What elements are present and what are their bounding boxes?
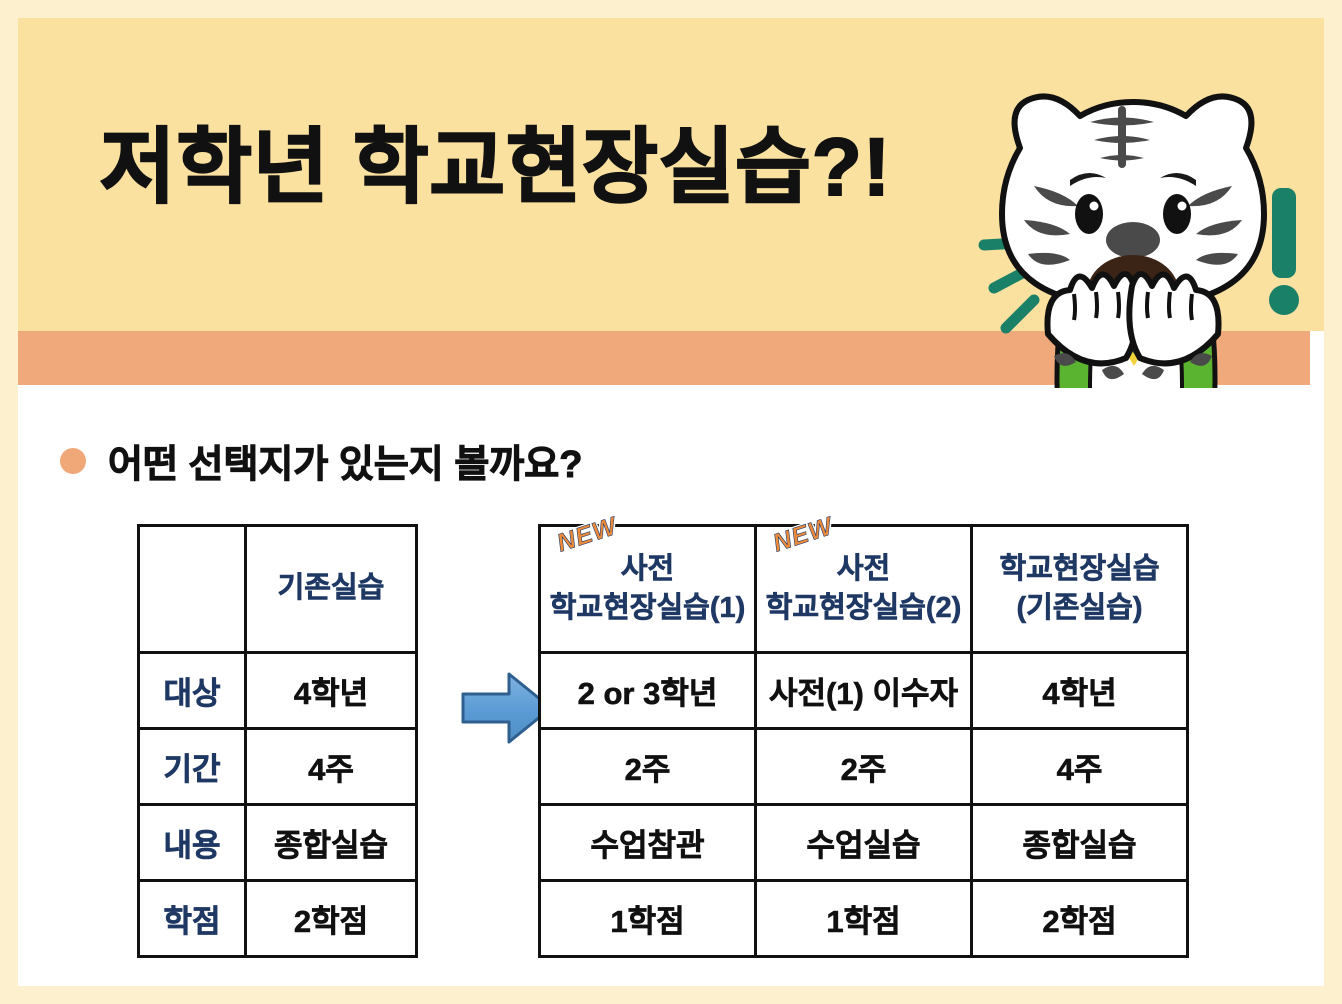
table-row: 수업참관 수업실습 종합실습 — [540, 805, 1188, 881]
table-row: 학점 2학점 — [139, 881, 417, 957]
cell-old-content: 종합실습 — [246, 805, 417, 881]
table-row: 2 or 3학년 사전(1) 이수자 4학년 — [540, 653, 1188, 729]
cell-new-credits-2: 1학점 — [756, 881, 972, 957]
cell-new-content-2: 수업실습 — [756, 805, 972, 881]
row-label-content: 내용 — [139, 805, 246, 881]
slide-content-area: 저학년 학교현장실습?! — [18, 18, 1324, 986]
slide: 저학년 학교현장실습?! — [0, 0, 1342, 1004]
header-line1: 학교현장실습 — [973, 550, 1186, 589]
table-row: 1학점 1학점 2학점 — [540, 881, 1188, 957]
cell-new-target-3: 4학년 — [972, 653, 1188, 729]
cell-new-duration-1: 2주 — [540, 729, 756, 805]
cell-old-target: 4학년 — [246, 653, 417, 729]
header-line2: 학교현장실습(1) — [541, 589, 754, 628]
eye-left — [1075, 194, 1103, 234]
table-row: 기간 4주 — [139, 729, 417, 805]
cell-old-duration: 4주 — [246, 729, 417, 805]
cell-new-duration-3: 4주 — [972, 729, 1188, 805]
header-line2: (기존실습) — [973, 589, 1186, 628]
nose — [1106, 222, 1160, 258]
exclamation-mark-icon — [1269, 188, 1299, 315]
cell-new-content-1: 수업참관 — [540, 805, 756, 881]
cell-old-credits: 2학점 — [246, 881, 417, 957]
header-line2: 학교현장실습(2) — [757, 589, 970, 628]
header-pre-practicum-2: NEW 사전 학교현장실습(2) — [756, 526, 972, 653]
cell-new-credits-3: 2학점 — [972, 881, 1188, 957]
bullet-row: 어떤 선택지가 있는지 볼까요? — [60, 433, 582, 488]
cell-new-target-1: 2 or 3학년 — [540, 653, 756, 729]
header-existing: 기존실습 — [246, 526, 417, 653]
row-label-duration: 기간 — [139, 729, 246, 805]
row-label-credits: 학점 — [139, 881, 246, 957]
table-row: 2주 2주 4주 — [540, 729, 1188, 805]
page-title: 저학년 학교현장실습?! — [100, 123, 891, 213]
tiger-mascot-illustration — [942, 88, 1324, 388]
header-pre-practicum-1: NEW 사전 학교현장실습(1) — [540, 526, 756, 653]
bullet-text: 어떤 선택지가 있는지 볼까요? — [108, 433, 582, 488]
eye-right — [1163, 194, 1191, 234]
cell-new-duration-2: 2주 — [756, 729, 972, 805]
header-field-practicum: 학교현장실습 (기존실습) — [972, 526, 1188, 653]
table-existing-practicum: 기존실습 대상 4학년 기간 4주 내용 종합실습 학점 2학점 — [137, 524, 418, 958]
table-row: 대상 4학년 — [139, 653, 417, 729]
cell-new-content-3: 종합실습 — [972, 805, 1188, 881]
table-row: 기존실습 — [139, 526, 417, 653]
cell-new-credits-1: 1학점 — [540, 881, 756, 957]
table-row: NEW 사전 학교현장실습(1) NEW 사전 학교현장실습(2) 학교현장실습… — [540, 526, 1188, 653]
row-label-target: 대상 — [139, 653, 246, 729]
bullet-dot-icon — [60, 448, 86, 474]
cell-new-target-2: 사전(1) 이수자 — [756, 653, 972, 729]
table-new-options: NEW 사전 학교현장실습(1) NEW 사전 학교현장실습(2) 학교현장실습… — [538, 524, 1189, 958]
corner-cell — [139, 526, 246, 653]
table-row: 내용 종합실습 — [139, 805, 417, 881]
